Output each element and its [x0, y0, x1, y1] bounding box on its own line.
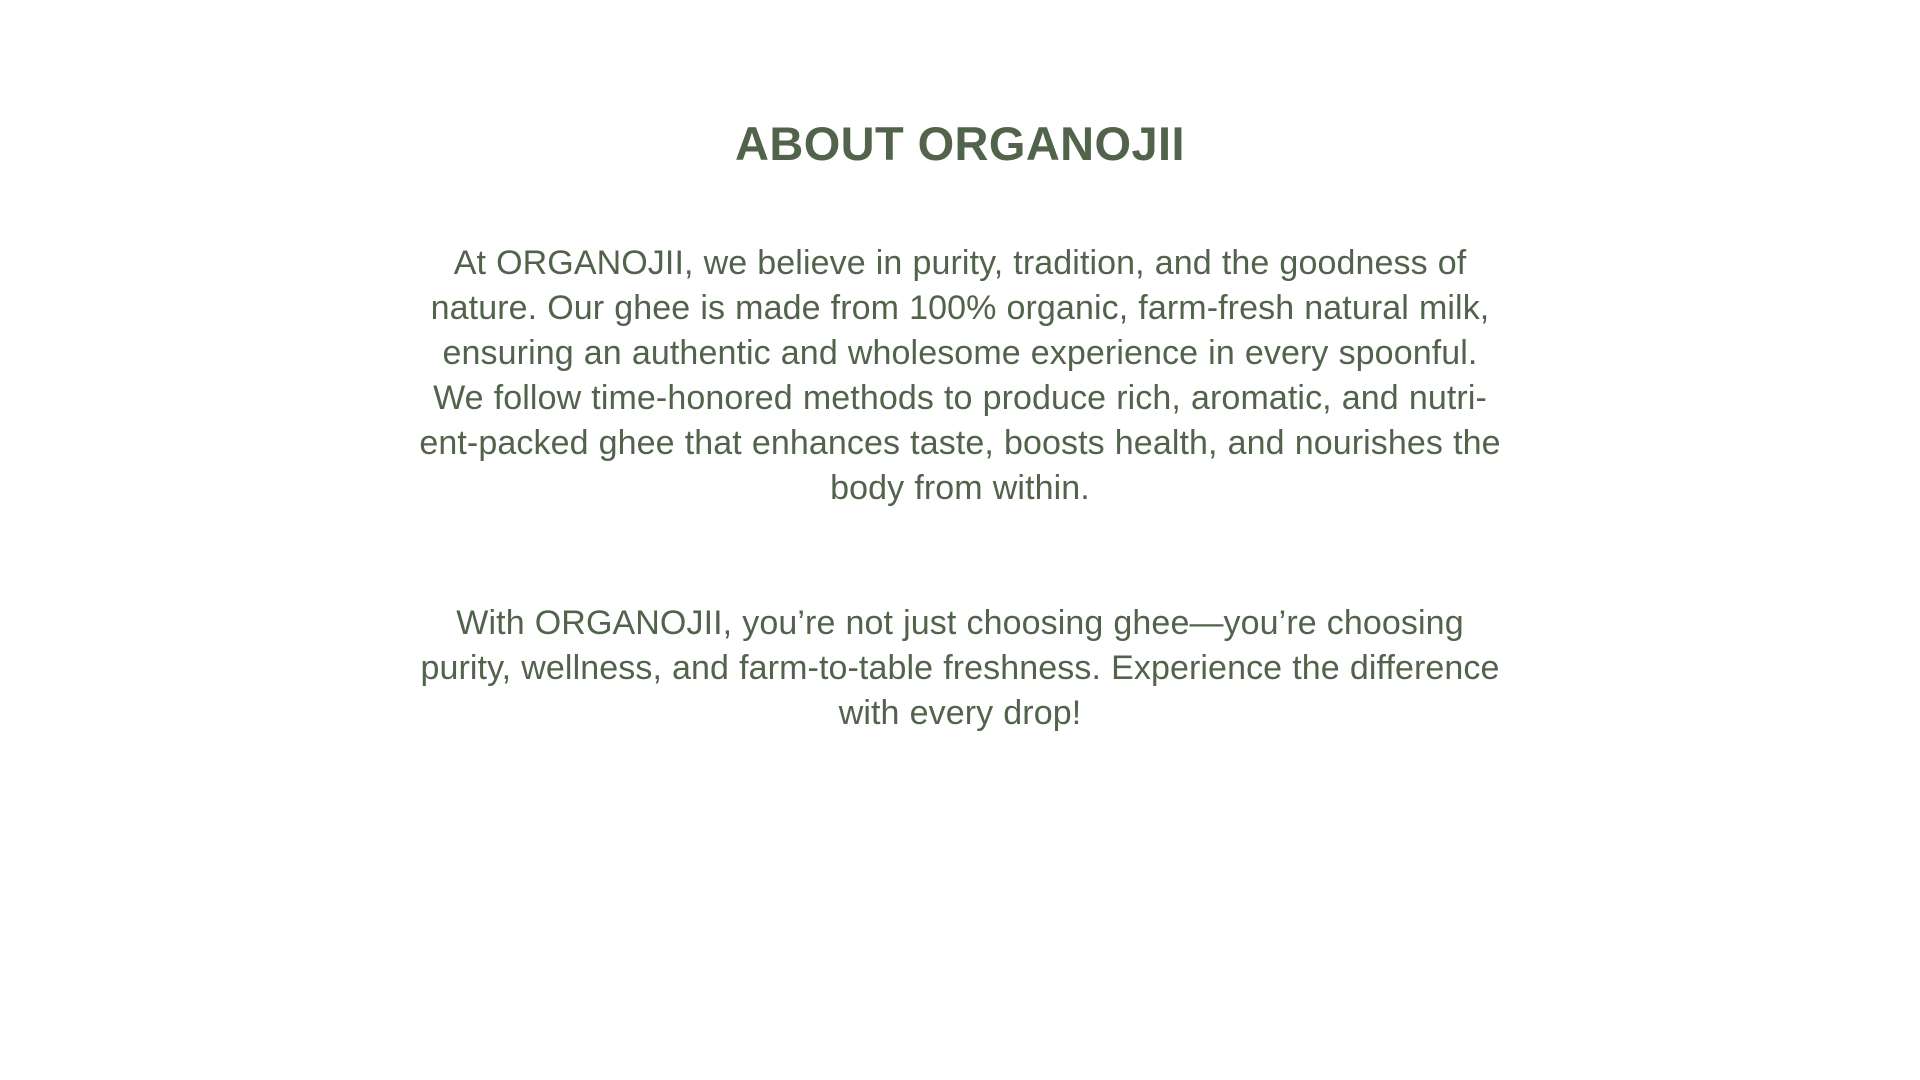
paragraph-line: purity, wellness, and farm-to-table fres…: [390, 646, 1530, 691]
about-body: At ORGANOJII, we believe in purity, trad…: [390, 241, 1530, 736]
paragraph-line: nature. Our ghee is made from 100% organ…: [390, 286, 1530, 331]
paragraph-line: body from within.: [390, 466, 1530, 511]
page-title: ABOUT ORGANOJII: [385, 118, 1535, 171]
paragraph-line: At ORGANOJII, we believe in purity, trad…: [390, 241, 1530, 286]
paragraph-line: We follow time-honored methods to produc…: [390, 376, 1530, 421]
paragraph-line: With ORGANOJII, you’re not just choosing…: [390, 601, 1530, 646]
about-paragraph-2: With ORGANOJII, you’re not just choosing…: [390, 601, 1530, 736]
paragraph-line: ensuring an authentic and wholesome expe…: [390, 331, 1530, 376]
about-section: ABOUT ORGANOJII At ORGANOJII, we believe…: [385, 118, 1535, 736]
paragraph-line: ent-packed ghee that enhances taste, boo…: [390, 421, 1530, 466]
paragraph-line: with every drop!: [390, 691, 1530, 736]
about-paragraph-1: At ORGANOJII, we believe in purity, trad…: [390, 241, 1530, 511]
about-page: ABOUT ORGANOJII At ORGANOJII, we believe…: [0, 0, 1920, 1080]
